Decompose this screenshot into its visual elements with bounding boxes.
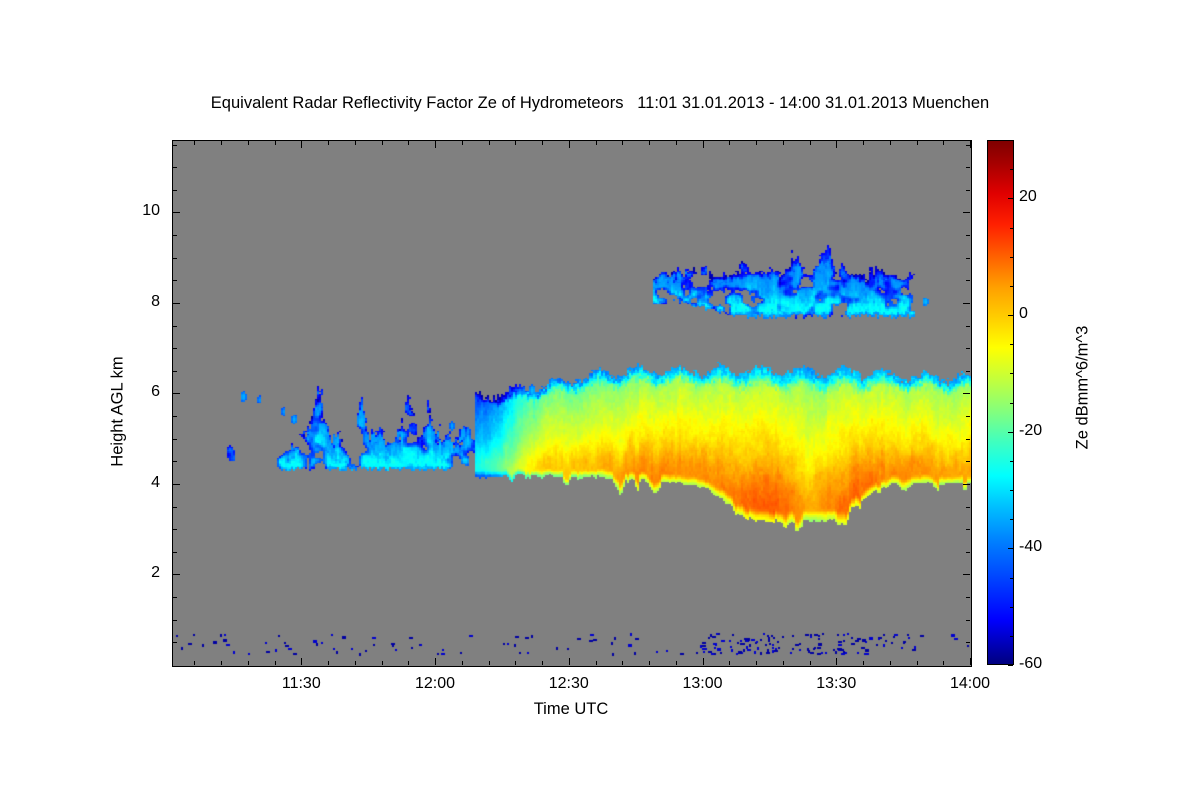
x-tick-minor-top (622, 141, 623, 145)
x-tick-minor (890, 661, 891, 665)
x-tick-minor (221, 661, 222, 665)
x-tick-minor-top (328, 141, 329, 145)
colorbar-tick-minor (1010, 403, 1013, 404)
x-tick-minor (408, 661, 409, 665)
colorbar-tick-label: 20 (1019, 188, 1037, 206)
y-tick-minor (173, 461, 177, 462)
colorbar-tick (1008, 548, 1013, 549)
y-tick-major (173, 484, 180, 485)
x-tick-minor (489, 661, 490, 665)
x-tick-minor-top (890, 141, 891, 145)
colorbar-tick-minor (1010, 286, 1013, 287)
x-tick-minor (649, 661, 650, 665)
y-tick-minor-right (966, 439, 970, 440)
x-tick-minor (729, 661, 730, 665)
x-tick-minor-top (515, 141, 516, 145)
y-tick-major-right (963, 303, 970, 304)
y-tick-minor (173, 190, 177, 191)
x-tick-minor-top (221, 141, 222, 145)
colorbar-tick-minor (1010, 636, 1013, 637)
y-tick-minor-right (966, 552, 970, 553)
x-tick-minor-top (917, 141, 918, 145)
x-tick-minor-top (194, 141, 195, 145)
y-tick-major-right (963, 574, 970, 575)
colorbar-tick-minor (1010, 140, 1013, 141)
x-tick-minor (542, 661, 543, 665)
y-tick-label: 10 (100, 202, 160, 220)
colorbar-tick-label: -20 (1019, 422, 1042, 440)
x-tick-major (569, 658, 570, 665)
x-tick-minor (248, 661, 249, 665)
x-tick-minor-top (408, 141, 409, 145)
page-title: Equivalent Radar Reflectivity Factor Ze … (0, 94, 1200, 113)
colorbar-tick-minor (1010, 519, 1013, 520)
x-tick-minor-top (248, 141, 249, 145)
y-tick-major-right (963, 393, 970, 394)
y-tick-minor-right (966, 258, 970, 259)
colorbar-tick (1008, 665, 1013, 666)
x-tick-label: 13:30 (796, 675, 876, 693)
x-tick-minor (863, 661, 864, 665)
x-tick-minor (783, 661, 784, 665)
colorbar-tick-minor (1010, 257, 1013, 258)
y-tick-major (173, 574, 180, 575)
y-tick-minor (173, 167, 177, 168)
y-tick-minor (173, 507, 177, 508)
y-tick-minor (173, 371, 177, 372)
x-tick-major-top (836, 141, 837, 148)
y-tick-minor (173, 145, 177, 146)
x-tick-minor-top (462, 141, 463, 145)
x-tick-minor (355, 661, 356, 665)
x-tick-label: 11:30 (261, 675, 341, 693)
colorbar-tick-minor (1010, 461, 1013, 462)
y-tick-minor (173, 620, 177, 621)
y-tick-major (173, 303, 180, 304)
y-tick-minor (173, 326, 177, 327)
x-tick-minor-top (382, 141, 383, 145)
y-tick-minor-right (966, 190, 970, 191)
x-tick-minor-top (863, 141, 864, 145)
y-tick-minor-right (966, 416, 970, 417)
x-tick-label: 12:30 (529, 675, 609, 693)
y-tick-major (173, 393, 180, 394)
y-tick-minor-right (966, 167, 970, 168)
y-tick-minor-right (966, 507, 970, 508)
x-tick-label: 13:00 (663, 675, 743, 693)
y-tick-major-right (963, 484, 970, 485)
x-tick-minor-top (729, 141, 730, 145)
x-axis-title: Time UTC (172, 700, 970, 719)
colorbar-tick-minor (1010, 490, 1013, 491)
colorbar-tick-label: -60 (1019, 655, 1042, 673)
x-tick-minor (462, 661, 463, 665)
x-tick-label: 12:00 (395, 675, 475, 693)
x-tick-minor (515, 661, 516, 665)
y-tick-minor (173, 416, 177, 417)
colorbar-tick-minor (1010, 578, 1013, 579)
y-tick-minor (173, 280, 177, 281)
y-tick-minor (173, 348, 177, 349)
x-tick-major-top (569, 141, 570, 148)
y-tick-minor-right (966, 642, 970, 643)
y-tick-minor-right (966, 371, 970, 372)
x-tick-minor-top (783, 141, 784, 145)
y-tick-minor (173, 235, 177, 236)
colorbar-tick-label: 0 (1019, 305, 1028, 323)
x-tick-major-top (970, 141, 971, 148)
x-tick-minor-top (489, 141, 490, 145)
x-tick-major-top (435, 141, 436, 148)
colorbar-tick (1008, 315, 1013, 316)
y-tick-minor-right (966, 235, 970, 236)
colorbar-tick-minor (1010, 169, 1013, 170)
colorbar-tick-minor (1010, 373, 1013, 374)
x-tick-minor (676, 661, 677, 665)
x-tick-major-top (301, 141, 302, 148)
colorbar-tick-minor (1010, 344, 1013, 345)
x-tick-minor-top (943, 141, 944, 145)
x-tick-major (836, 658, 837, 665)
plot-area (172, 140, 972, 667)
y-tick-minor (173, 439, 177, 440)
x-tick-minor (756, 661, 757, 665)
y-tick-minor (173, 597, 177, 598)
y-tick-minor (173, 529, 177, 530)
x-tick-minor (194, 661, 195, 665)
x-tick-minor-top (542, 141, 543, 145)
x-tick-minor-top (596, 141, 597, 145)
y-tick-minor-right (966, 529, 970, 530)
y-axis-title: Height AGL km (109, 292, 128, 532)
y-tick-minor-right (966, 597, 970, 598)
x-tick-major (301, 658, 302, 665)
x-tick-major (703, 658, 704, 665)
y-tick-major (173, 212, 180, 213)
colorbar-tick-minor (1010, 607, 1013, 608)
radar-reflectivity-figure: Equivalent Radar Reflectivity Factor Ze … (0, 0, 1200, 800)
x-tick-minor-top (756, 141, 757, 145)
x-tick-minor (328, 661, 329, 665)
x-tick-minor-top (355, 141, 356, 145)
x-tick-minor (810, 661, 811, 665)
y-tick-minor-right (966, 348, 970, 349)
x-tick-minor-top (649, 141, 650, 145)
y-tick-minor (173, 642, 177, 643)
x-tick-minor (917, 661, 918, 665)
x-tick-minor (622, 661, 623, 665)
x-tick-minor-top (676, 141, 677, 145)
colorbar-title: Ze dBmm^6/m^3 (1074, 268, 1093, 508)
reflectivity-heatmap-canvas (173, 141, 971, 666)
colorbar-tick-label: -40 (1019, 538, 1042, 556)
y-tick-minor-right (966, 620, 970, 621)
y-tick-minor (173, 552, 177, 553)
y-tick-label: 2 (100, 564, 160, 582)
x-tick-label: 14:00 (930, 675, 1010, 693)
x-tick-major (435, 658, 436, 665)
y-tick-minor (173, 258, 177, 259)
colorbar-tick (1008, 432, 1013, 433)
x-tick-minor-top (275, 141, 276, 145)
y-tick-major-right (963, 212, 970, 213)
x-tick-minor (943, 661, 944, 665)
y-tick-minor-right (966, 461, 970, 462)
x-tick-minor (275, 661, 276, 665)
x-tick-minor-top (810, 141, 811, 145)
x-tick-minor (596, 661, 597, 665)
x-tick-major (970, 658, 971, 665)
colorbar-tick-minor (1010, 228, 1013, 229)
colorbar-tick (1008, 198, 1013, 199)
x-tick-major-top (703, 141, 704, 148)
x-tick-minor (382, 661, 383, 665)
y-tick-minor-right (966, 326, 970, 327)
y-tick-minor-right (966, 280, 970, 281)
